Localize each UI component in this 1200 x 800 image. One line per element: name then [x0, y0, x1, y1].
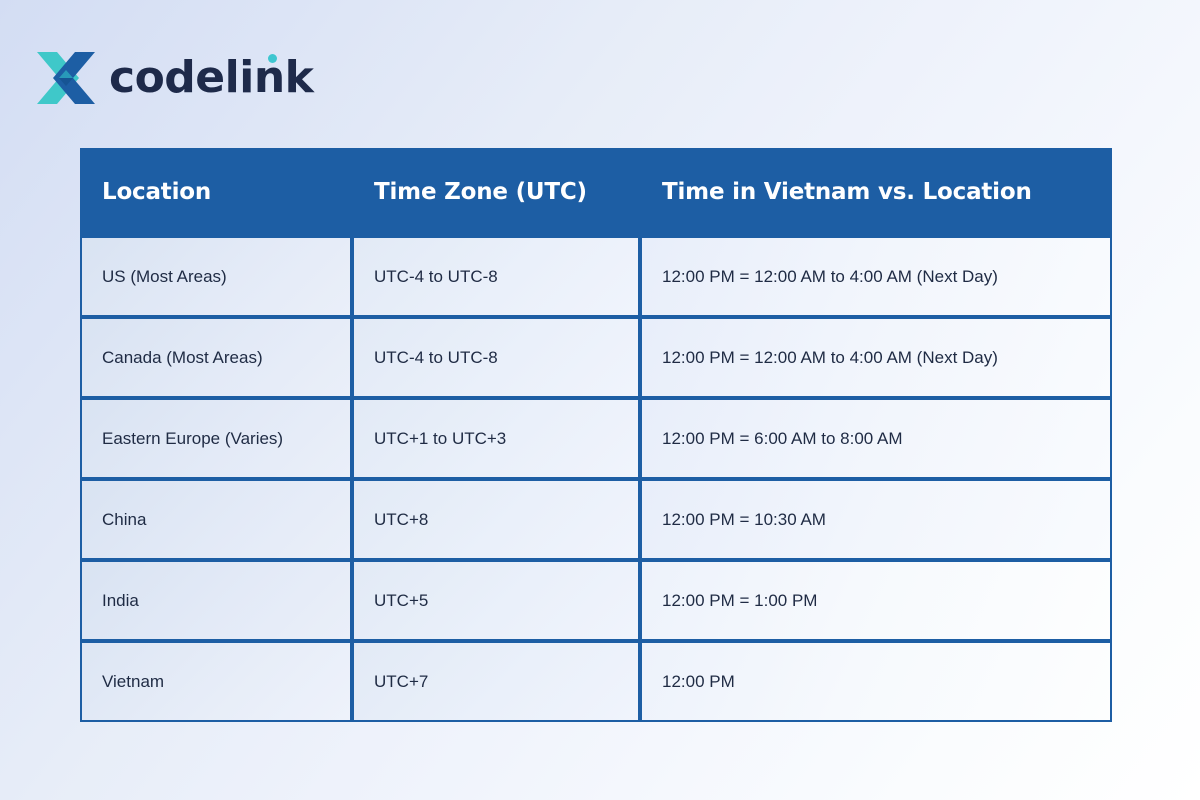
cell-location: India — [80, 560, 352, 641]
cell-location: China — [80, 479, 352, 560]
codelink-chevron-mark-icon — [37, 46, 95, 110]
cell-location: Canada (Most Areas) — [80, 317, 352, 398]
cell-location: US (Most Areas) — [80, 236, 352, 317]
brand-wordmark: codelink — [109, 56, 313, 100]
cell-timezone: UTC-4 to UTC-8 — [352, 317, 640, 398]
column-header-location: Location — [80, 148, 352, 236]
brand-wordmark-text: codelink — [109, 52, 313, 103]
timezone-table: Location Time Zone (UTC) Time in Vietnam… — [80, 148, 1112, 722]
cell-timezone: UTC-4 to UTC-8 — [352, 236, 640, 317]
cell-comparison: 12:00 PM = 1:00 PM — [640, 560, 1112, 641]
cell-timezone: UTC+7 — [352, 641, 640, 722]
column-header-timezone: Time Zone (UTC) — [352, 148, 640, 236]
table-row: Canada (Most Areas) UTC-4 to UTC-8 12:00… — [80, 317, 1112, 398]
cell-comparison: 12:00 PM = 12:00 AM to 4:00 AM (Next Day… — [640, 317, 1112, 398]
table-row: India UTC+5 12:00 PM = 1:00 PM — [80, 560, 1112, 641]
column-header-comparison: Time in Vietnam vs. Location — [640, 148, 1112, 236]
cell-comparison: 12:00 PM = 12:00 AM to 4:00 AM (Next Day… — [640, 236, 1112, 317]
brand-logo: codelink — [37, 46, 313, 110]
table-body: US (Most Areas) UTC-4 to UTC-8 12:00 PM … — [80, 236, 1112, 722]
cell-comparison: 12:00 PM = 6:00 AM to 8:00 AM — [640, 398, 1112, 479]
cell-timezone: UTC+8 — [352, 479, 640, 560]
table-row: China UTC+8 12:00 PM = 10:30 AM — [80, 479, 1112, 560]
cell-comparison: 12:00 PM — [640, 641, 1112, 722]
cell-comparison: 12:00 PM = 10:30 AM — [640, 479, 1112, 560]
cell-timezone: UTC+5 — [352, 560, 640, 641]
table-row: US (Most Areas) UTC-4 to UTC-8 12:00 PM … — [80, 236, 1112, 317]
table-row: Eastern Europe (Varies) UTC+1 to UTC+3 1… — [80, 398, 1112, 479]
cell-location: Eastern Europe (Varies) — [80, 398, 352, 479]
table-header: Location Time Zone (UTC) Time in Vietnam… — [80, 148, 1112, 236]
cell-location: Vietnam — [80, 641, 352, 722]
table-row: Vietnam UTC+7 12:00 PM — [80, 641, 1112, 722]
table-header-row: Location Time Zone (UTC) Time in Vietnam… — [80, 148, 1112, 236]
cell-timezone: UTC+1 to UTC+3 — [352, 398, 640, 479]
